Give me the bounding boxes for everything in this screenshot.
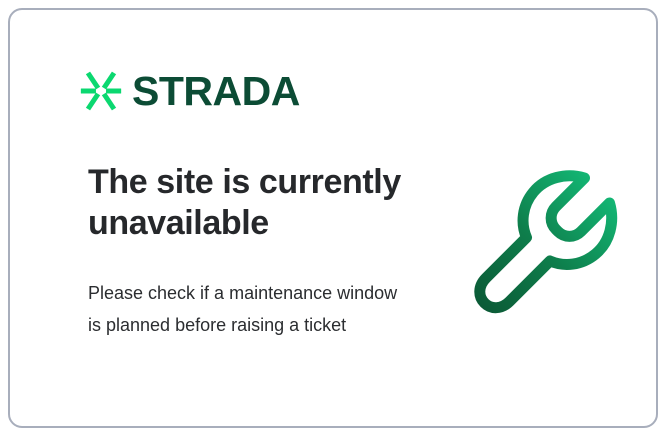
page-title: The site is currently unavailable <box>88 162 428 245</box>
page-description: Please check if a maintenance window is … <box>88 278 398 341</box>
error-page: STRADA The site is currently unavailable… <box>0 0 666 436</box>
strada-asterisk-icon <box>80 70 122 112</box>
brand-wordmark: STRADA <box>132 71 300 112</box>
status-card: STRADA The site is currently unavailable… <box>8 8 658 428</box>
brand-logo: STRADA <box>80 70 300 112</box>
wrench-icon <box>462 158 628 322</box>
